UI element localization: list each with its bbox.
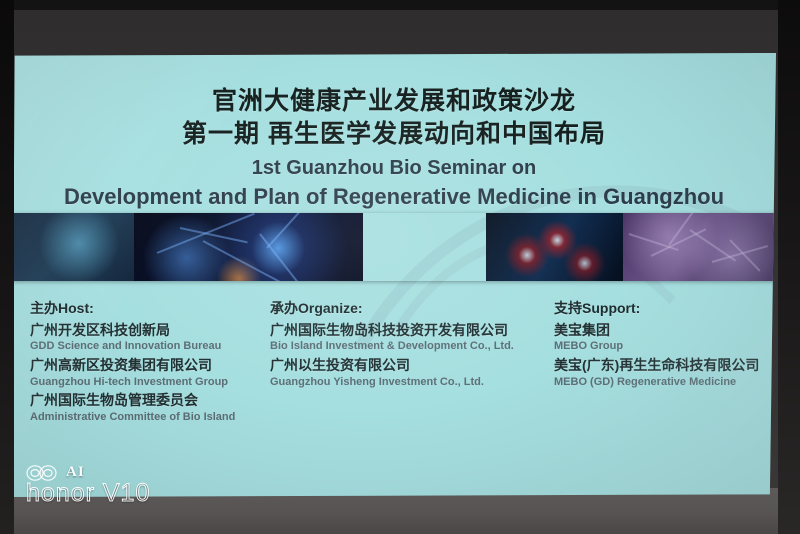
credits-column-organize: 承办Organize: 广州国际生物岛科技投资开发有限公司 Bio Island… — [270, 298, 550, 391]
watermark-brand-label: honor V10 — [26, 479, 150, 508]
credit-en: Guangzhou Hi-tech Investment Group — [30, 375, 280, 390]
title-chinese-line-1: 官洲大健康产业发展和政策沙龙 — [12, 87, 776, 116]
credit-en: MEBO Group — [554, 339, 776, 354]
credits-heading-host: 主办Host: — [30, 298, 280, 318]
credit-cn: 广州国际生物岛科技投资开发有限公司 — [270, 321, 550, 339]
photo-canvas: 官洲大健康产业发展和政策沙龙 第一期 再生医学发展动向和中国布局 1st Gua… — [0, 0, 800, 534]
band-panel-red-blood-cells — [486, 213, 624, 281]
credits-column-support: 支持Support: 美宝集团 MEBO Group 美宝(广东)再生生命科技有… — [554, 298, 776, 391]
band-panel-lab-equipment — [363, 213, 485, 281]
title-block: 官洲大健康产业发展和政策沙龙 第一期 再生医学发展动向和中国布局 1st Gua… — [12, 87, 776, 210]
credits-heading-organize: 承办Organize: — [270, 298, 550, 318]
band-panel-neuron-network — [134, 213, 363, 281]
wall-left-edge — [0, 0, 14, 534]
credit-en: Guangzhou Yisheng Investment Co., Ltd. — [270, 375, 550, 390]
credit-en: GDD Science and Innovation Bureau — [30, 339, 280, 354]
camera-watermark: AI honor V10 — [26, 464, 150, 508]
title-chinese-line-2: 第一期 再生医学发展动向和中国布局 — [12, 120, 776, 149]
credit-cn: 美宝集团 — [554, 321, 776, 339]
title-english-line-2: Development and Plan of Regenerative Med… — [12, 184, 776, 210]
credits-row: 主办Host: 广州开发区科技创新局 GDD Science and Innov… — [12, 298, 776, 458]
image-band — [12, 213, 776, 281]
title-english-line-1: 1st Guanzhou Bio Seminar on — [12, 157, 776, 181]
projected-slide: 官洲大健康产业发展和政策沙龙 第一期 再生医学发展动向和中国布局 1st Gua… — [12, 53, 776, 497]
credit-cn: 广州开发区科技创新局 — [30, 321, 280, 339]
wall-right-edge — [778, 0, 800, 534]
credits-column-host: 主办Host: 广州开发区科技创新局 GDD Science and Innov… — [30, 298, 280, 427]
credit-cn: 广州高新区投资集团有限公司 — [30, 356, 280, 374]
credit-cn: 广州国际生物岛管理委员会 — [30, 391, 280, 409]
credit-cn: 广州以生投资有限公司 — [270, 356, 550, 374]
credits-heading-support: 支持Support: — [554, 298, 776, 318]
credit-en: Administrative Committee of Bio Island — [30, 410, 280, 425]
band-panel-neural-tissue — [623, 213, 776, 281]
band-panel-human-body-scan — [12, 213, 134, 281]
credit-cn: 美宝(广东)再生生命科技有限公司 — [554, 356, 776, 374]
credit-en: MEBO (GD) Regenerative Medicine — [554, 375, 776, 390]
credit-en: Bio Island Investment & Development Co.,… — [270, 339, 550, 354]
